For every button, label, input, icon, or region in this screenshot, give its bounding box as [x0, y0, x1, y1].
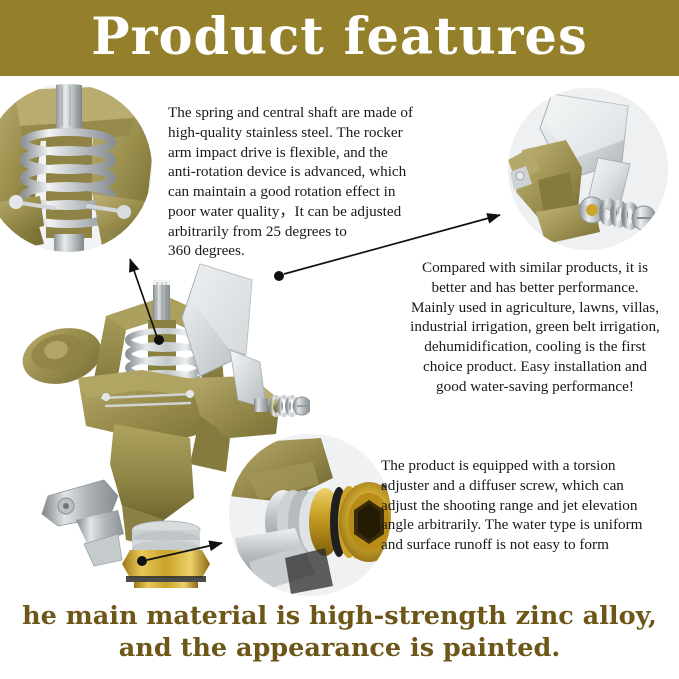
inset-threaded-diffuser: [229, 434, 391, 596]
infographic-page: Product features: [0, 0, 679, 679]
page-title: Product features: [91, 12, 587, 63]
paragraph-spring-shaft: The spring and central shaft are made of…: [168, 103, 498, 261]
inset-spring-and-shaft: [0, 84, 152, 252]
footer-material-text: he main material is high-strength zinc a…: [0, 600, 679, 664]
paragraph-comparison: Compared with similar products, it is be…: [393, 258, 677, 396]
inset-rocker-arm: [508, 88, 668, 250]
header-banner: Product features: [0, 0, 679, 76]
paragraph-torsion-adjuster: The product is equipped with a torsion a…: [381, 456, 679, 555]
